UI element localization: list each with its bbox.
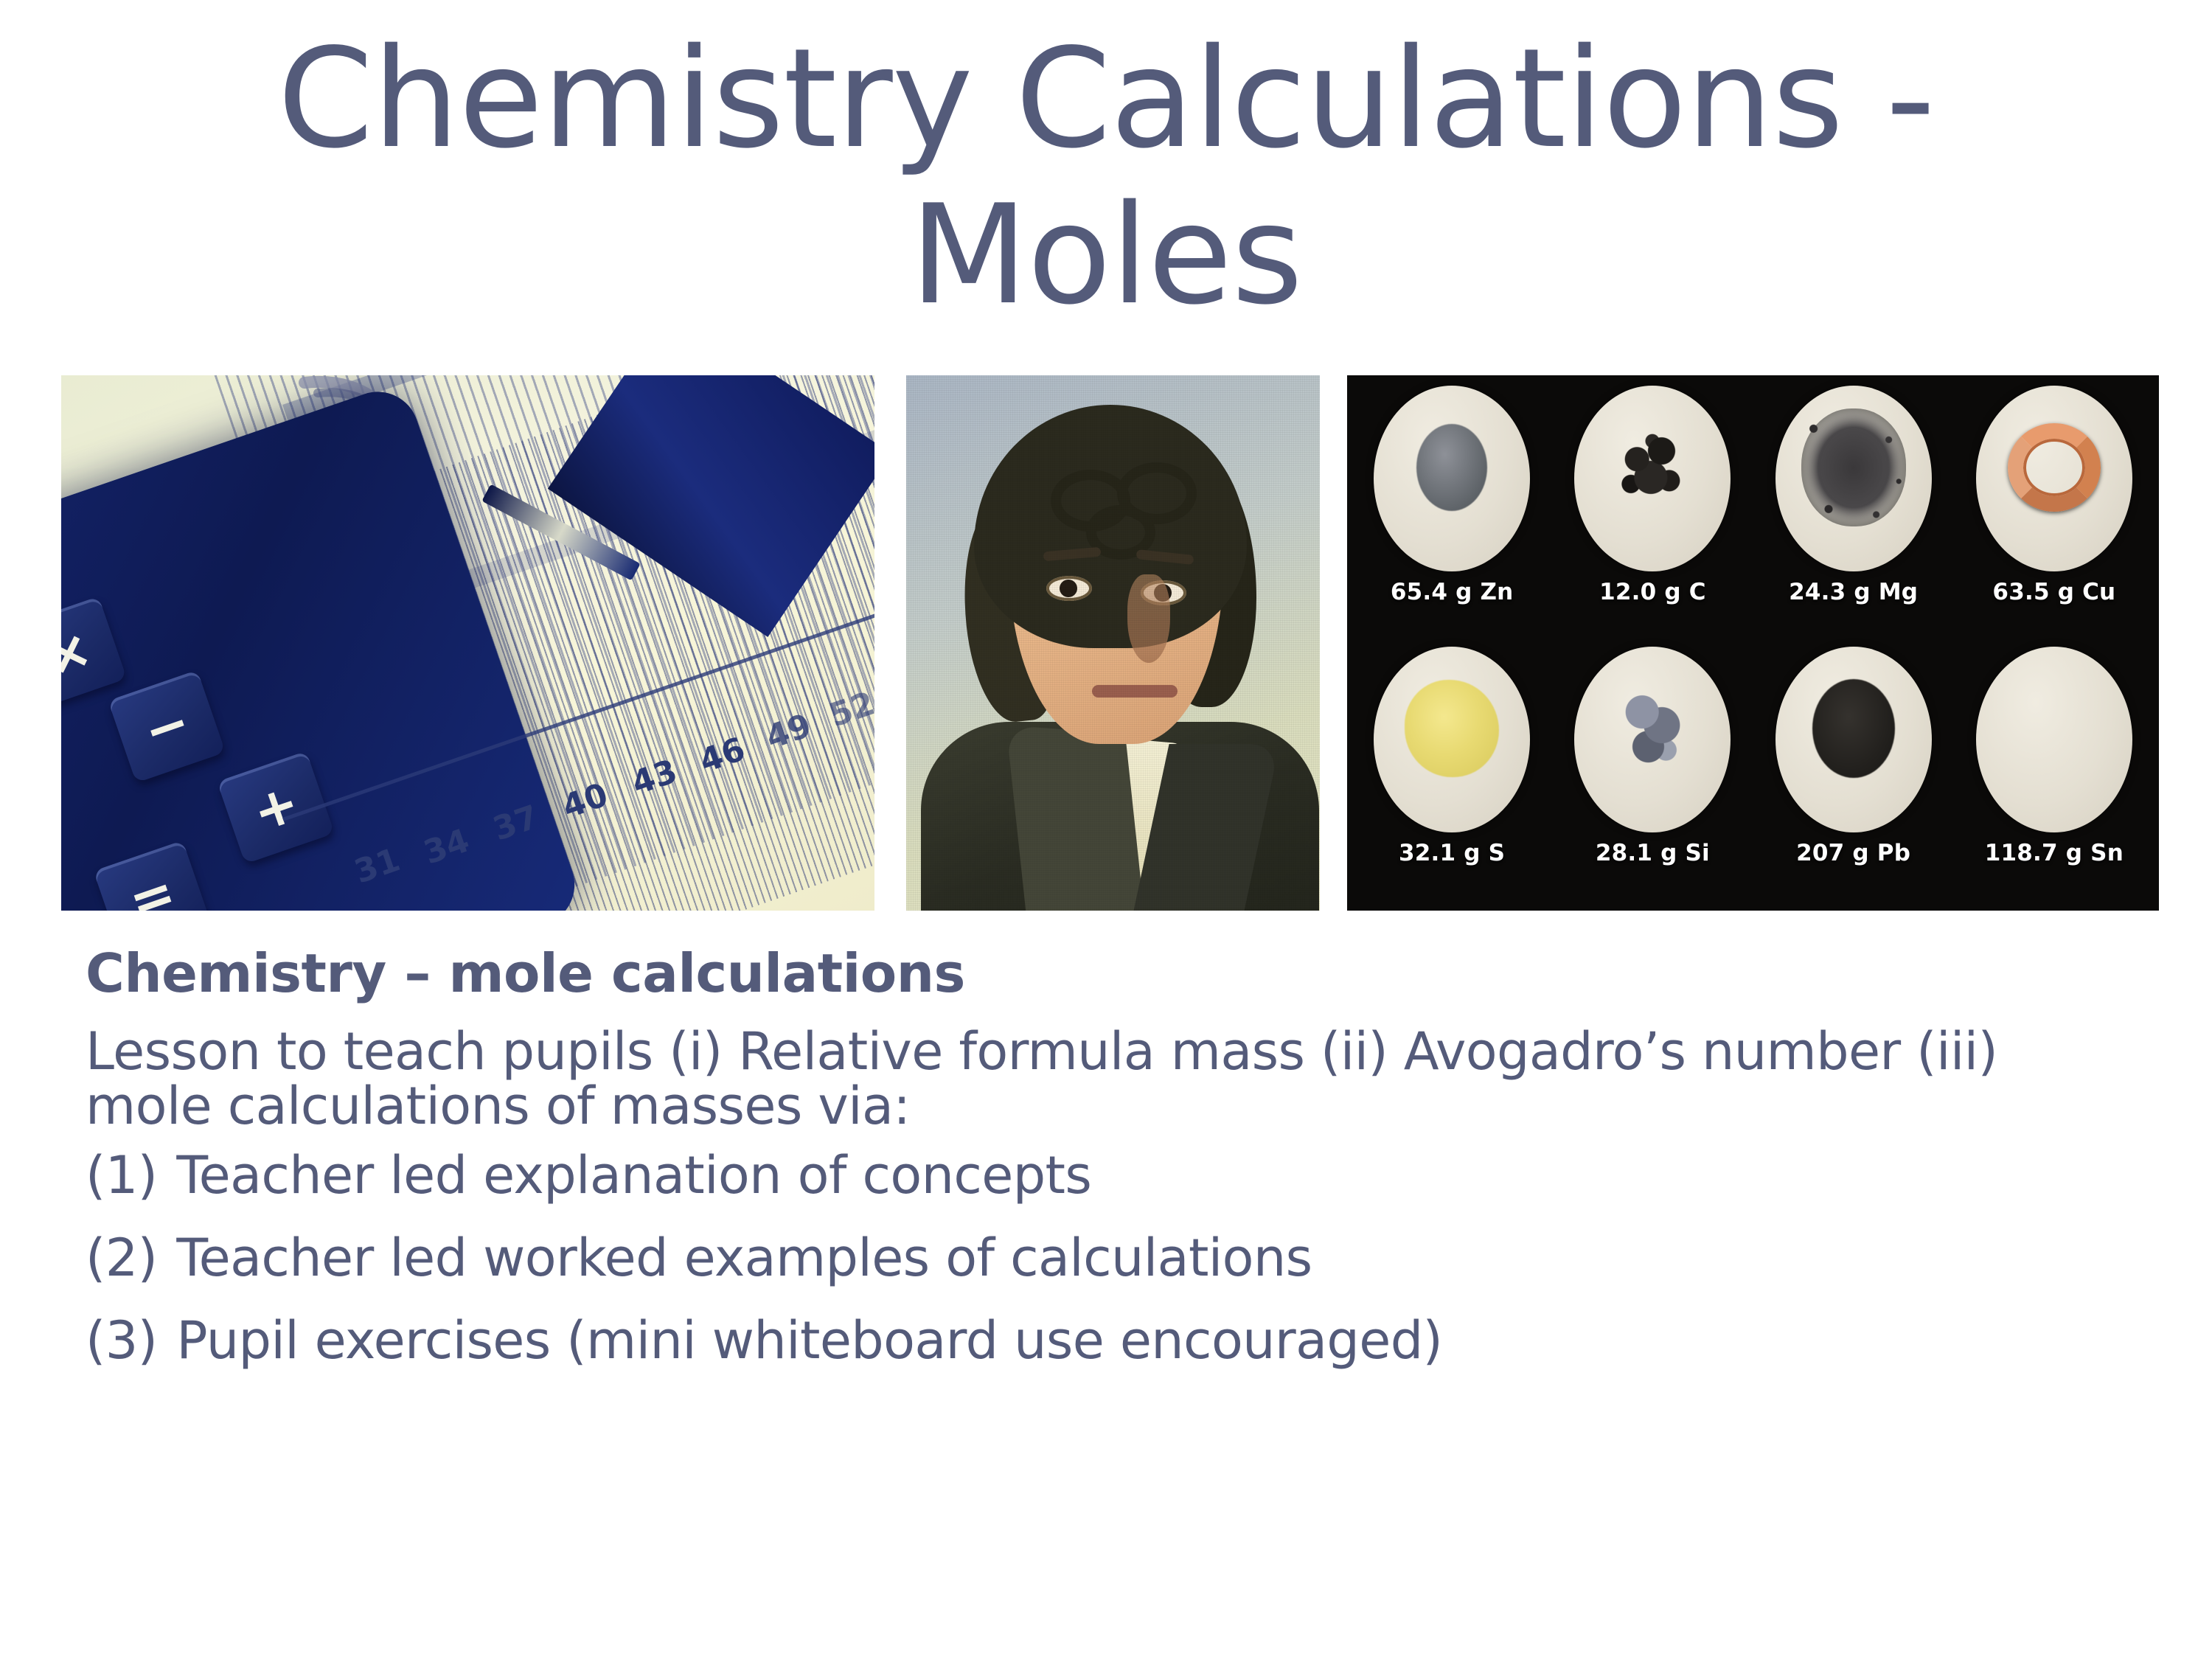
pupil-left <box>1060 580 1077 597</box>
weighing-paper-dish <box>1374 647 1530 832</box>
list-item: (2) Teacher led worked examples of calcu… <box>86 1232 2121 1284</box>
body-content: Chemistry – mole calculations Lesson to … <box>86 942 2121 1397</box>
avogadro-portrait-image <box>906 375 1320 911</box>
sample-copper <box>2008 423 2101 512</box>
sample-tin <box>2006 677 2103 780</box>
mole-sample-cell: 12.0 g C <box>1552 383 1753 644</box>
mole-sample-cell: 63.5 g Cu <box>1954 383 2154 644</box>
activity-list: (1) Teacher led explanation of concepts … <box>86 1150 2121 1366</box>
eye-left <box>1046 576 1092 601</box>
list-item-marker: (3) <box>86 1315 157 1366</box>
list-item: (3) Pupil exercises (mini whiteboard use… <box>86 1315 2121 1366</box>
mole-sample-label: 32.1 g S <box>1399 840 1505 866</box>
list-item-marker: (1) <box>86 1150 157 1201</box>
page-title: Chemistry Calculations - Moles <box>0 21 2212 333</box>
mole-sample-cell: 118.7 g Sn <box>1954 644 2154 905</box>
mole-sample-cell: 28.1 g Si <box>1552 644 1753 905</box>
weighing-paper-dish <box>1775 386 1932 571</box>
list-item-label: Pupil exercises (mini whiteboard use enc… <box>176 1315 2121 1366</box>
mole-sample-label: 28.1 g Si <box>1596 840 1710 866</box>
mole-sample-label: 24.3 g Mg <box>1789 579 1918 605</box>
mole-sample-cell: 32.1 g S <box>1352 644 1552 905</box>
mole-sample-label: 207 g Pb <box>1796 840 1910 866</box>
sample-magnesium <box>1801 408 1906 526</box>
sample-silicon <box>1618 687 1686 770</box>
list-item: (1) Teacher led explanation of concepts <box>86 1150 2121 1201</box>
weighing-paper-dish <box>1574 386 1731 571</box>
weighing-paper-dish <box>1775 647 1932 832</box>
sample-carbon <box>1614 426 1691 509</box>
list-item-label: Teacher led worked examples of calculati… <box>176 1232 2121 1284</box>
calc-key-equals: = <box>94 841 211 911</box>
mole-sample-cell: 65.4 g Zn <box>1352 383 1552 644</box>
list-item-marker: (2) <box>86 1232 157 1284</box>
coat-lapel-left <box>1006 726 1145 911</box>
calc-key-multiply: × <box>61 597 127 709</box>
sample-sulfur <box>1405 680 1499 777</box>
calculator-spreadsheet-image: ÷ × 3 − + = · 31 34 37 40 43 46 49 52 <box>61 375 874 911</box>
sample-zinc <box>1416 424 1487 511</box>
mole-sample-grid: 65.4 g Zn 12.0 g C 24.3 g Mg 63.5 g Cu <box>1347 375 2159 911</box>
mole-sample-cell: 207 g Pb <box>1753 644 1954 905</box>
image-strip: ÷ × 3 − + = · 31 34 37 40 43 46 49 52 <box>61 375 2159 911</box>
one-mole-samples-image: 65.4 g Zn 12.0 g C 24.3 g Mg 63.5 g Cu <box>1347 375 2159 911</box>
nose-shape <box>1127 574 1170 663</box>
list-item-label: Teacher led explanation of concepts <box>176 1150 2121 1201</box>
weighing-paper-dish <box>1574 647 1731 832</box>
sample-lead <box>1812 679 1895 778</box>
mole-sample-label: 118.7 g Sn <box>1985 840 2124 866</box>
section-subheading: Chemistry – mole calculations <box>86 942 2121 1005</box>
lesson-description: Lesson to teach pupils (i) Relative form… <box>86 1024 2121 1133</box>
weighing-paper-dish <box>1976 647 2132 832</box>
mole-sample-label: 12.0 g C <box>1599 579 1706 605</box>
weighing-paper-dish <box>1976 386 2132 571</box>
mole-sample-cell: 24.3 g Mg <box>1753 383 1954 644</box>
weighing-paper-dish <box>1374 386 1530 571</box>
mole-sample-label: 65.4 g Zn <box>1391 579 1514 605</box>
mouth-shape <box>1092 685 1178 698</box>
calc-key-minus: − <box>108 670 225 783</box>
mole-sample-label: 63.5 g Cu <box>1992 579 2115 605</box>
